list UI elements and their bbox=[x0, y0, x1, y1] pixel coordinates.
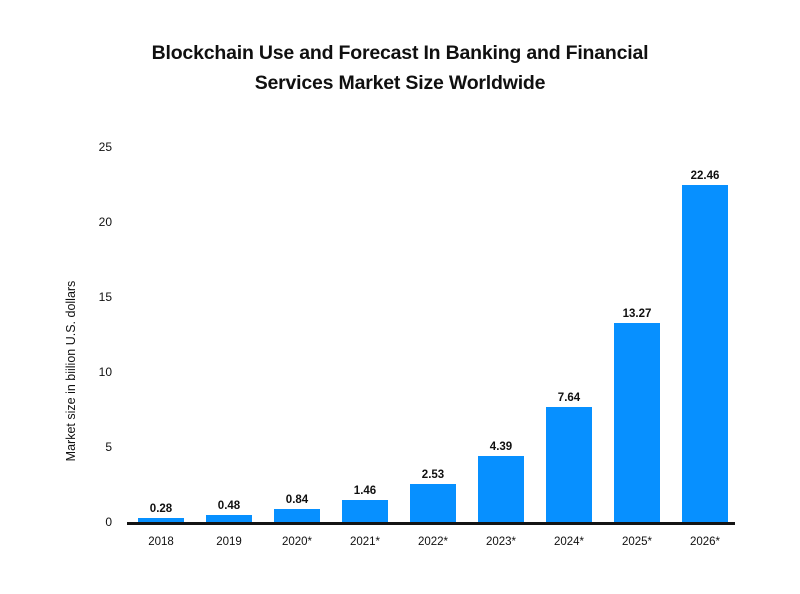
x-tick-2026: 2026* bbox=[665, 536, 745, 549]
bar-2024[interactable] bbox=[546, 407, 592, 522]
bar-value-2024: 7.64 bbox=[529, 392, 609, 404]
bar-2020[interactable] bbox=[274, 509, 320, 522]
plot-area: Market size in biilion U.S. dollars 0 5 … bbox=[0, 0, 800, 594]
bars-layer: 0.28 2018 0.48 2019 0.84 2020* 1.46 2021… bbox=[0, 0, 800, 594]
bar-2021[interactable] bbox=[342, 500, 388, 522]
bar-2026[interactable] bbox=[682, 185, 728, 522]
bar-2023[interactable] bbox=[478, 456, 524, 522]
bar-value-2023: 4.39 bbox=[461, 441, 541, 453]
bar-value-2022: 2.53 bbox=[393, 469, 473, 481]
x-axis-line bbox=[127, 522, 735, 525]
bar-2025[interactable] bbox=[614, 323, 660, 522]
bar-value-2025: 13.27 bbox=[597, 308, 677, 320]
bar-2019[interactable] bbox=[206, 515, 252, 522]
bar-2022[interactable] bbox=[410, 484, 456, 522]
bar-value-2021: 1.46 bbox=[325, 485, 405, 497]
bar-value-2026: 22.46 bbox=[665, 170, 745, 182]
